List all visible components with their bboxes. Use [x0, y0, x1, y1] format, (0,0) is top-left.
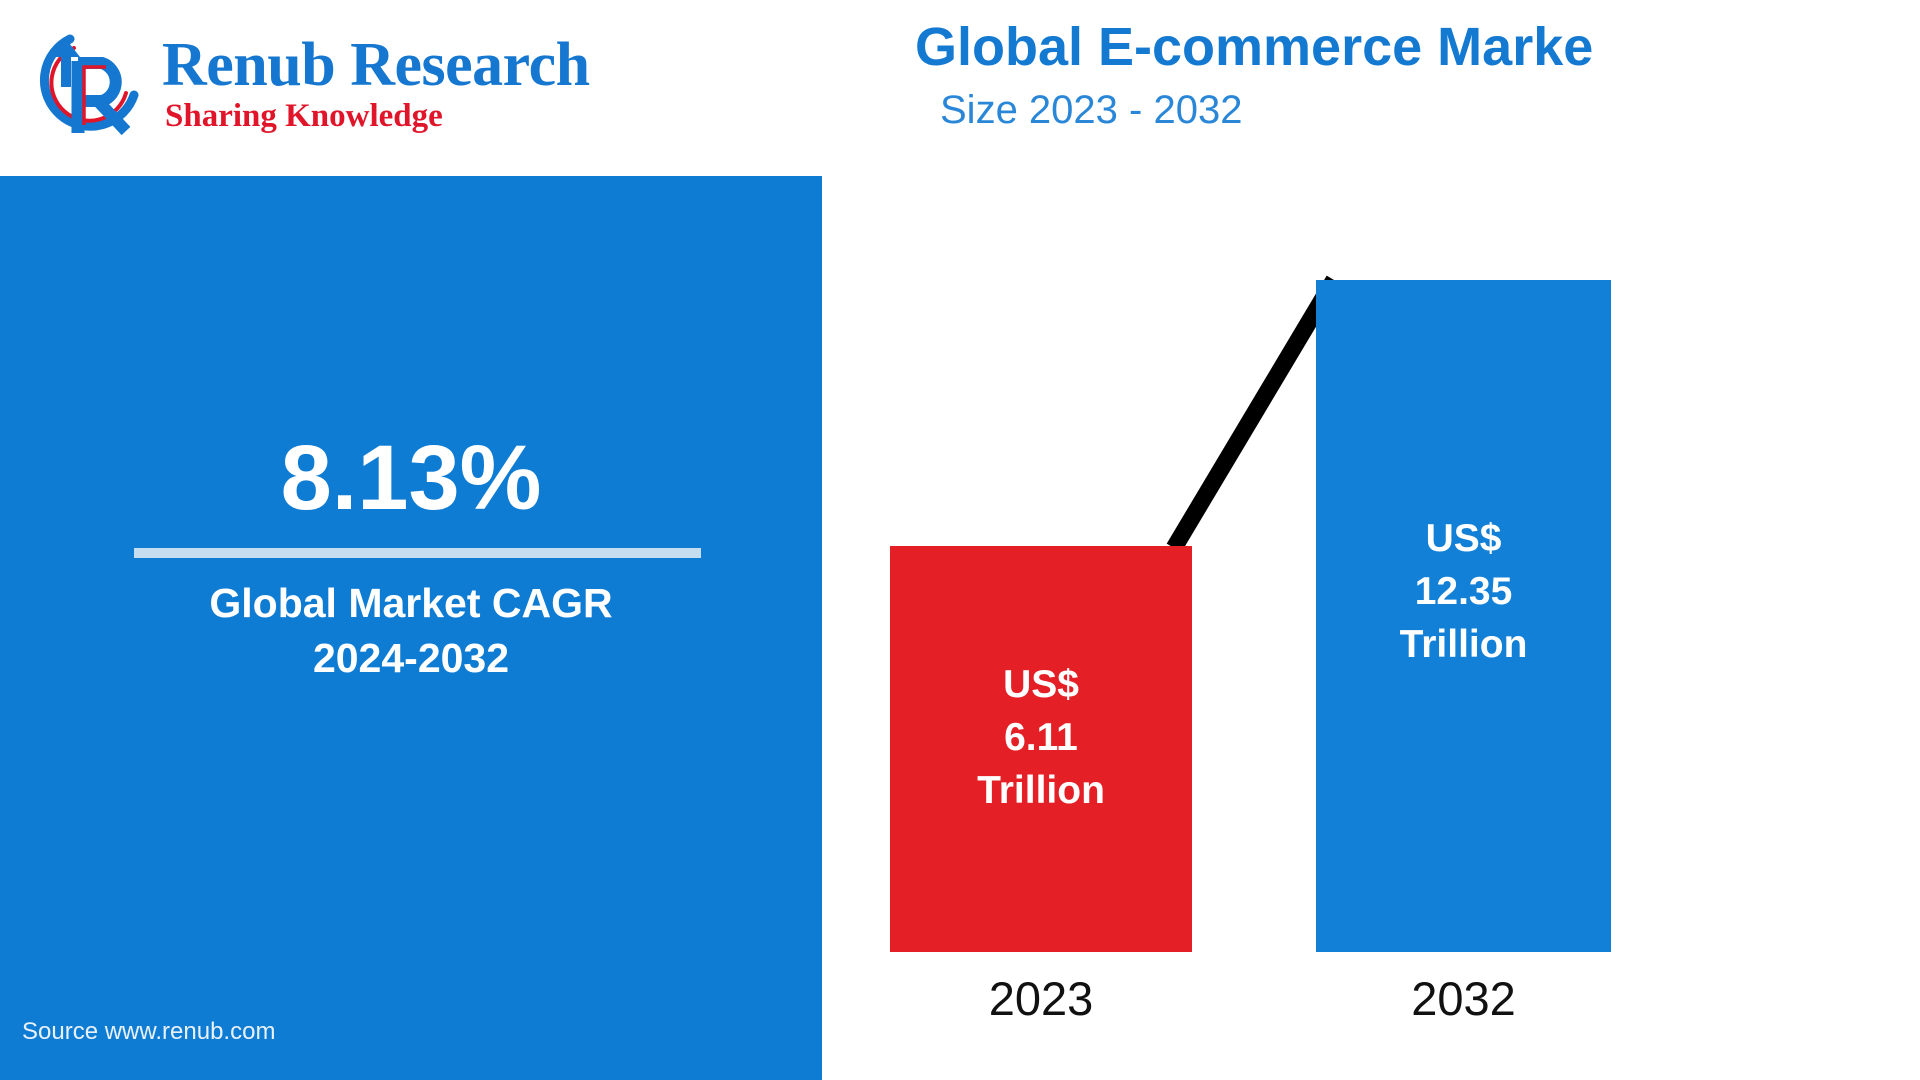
page-subtitle: Size 2023 - 2032	[940, 88, 1920, 132]
page-title: Global E-commerce Marke	[915, 18, 1920, 76]
bar-2023-currency: US$	[1003, 658, 1079, 711]
bar-2032-currency: US$	[1426, 512, 1502, 565]
x-axis-label-2023: 2023	[890, 975, 1192, 1022]
cagr-divider	[134, 548, 701, 558]
bar-2023[interactable]: US$ 6.11 Trillion	[890, 546, 1192, 952]
renub-r-arrow-circle-icon	[22, 21, 148, 147]
cagr-label: Global Market CAGR	[0, 576, 822, 631]
source-note: Source www.renub.com	[22, 1018, 275, 1046]
bar-2032[interactable]: US$ 12.35 Trillion	[1316, 280, 1611, 952]
brand-name: Renub Research	[162, 35, 590, 96]
infographic-page: Renub Research Sharing Knowledge Global …	[0, 0, 1920, 1080]
brand-wordmark: Renub Research Sharing Knowledge	[162, 35, 590, 133]
cagr-value: 8.13%	[0, 432, 822, 524]
x-axis-label-2032: 2032	[1316, 975, 1611, 1022]
bar-2032-unit: Trillion	[1400, 618, 1528, 671]
brand-tagline: Sharing Knowledge	[165, 100, 590, 133]
cagr-panel: 8.13% Global Market CAGR 2024-2032 Sourc…	[0, 176, 822, 1080]
header-block: Global E-commerce Marke Size 2023 - 2032	[915, 18, 1920, 132]
bar-chart: US$ 6.11 Trillion US$ 12.35 Trillion 202…	[822, 176, 1920, 1080]
bar-2023-value: 6.11	[1004, 711, 1078, 764]
brand-logo[interactable]: Renub Research Sharing Knowledge	[22, 14, 622, 154]
cagr-period: 2024-2032	[0, 631, 822, 686]
bar-2032-value: 12.35	[1415, 565, 1513, 618]
bar-2023-unit: Trillion	[977, 764, 1105, 817]
